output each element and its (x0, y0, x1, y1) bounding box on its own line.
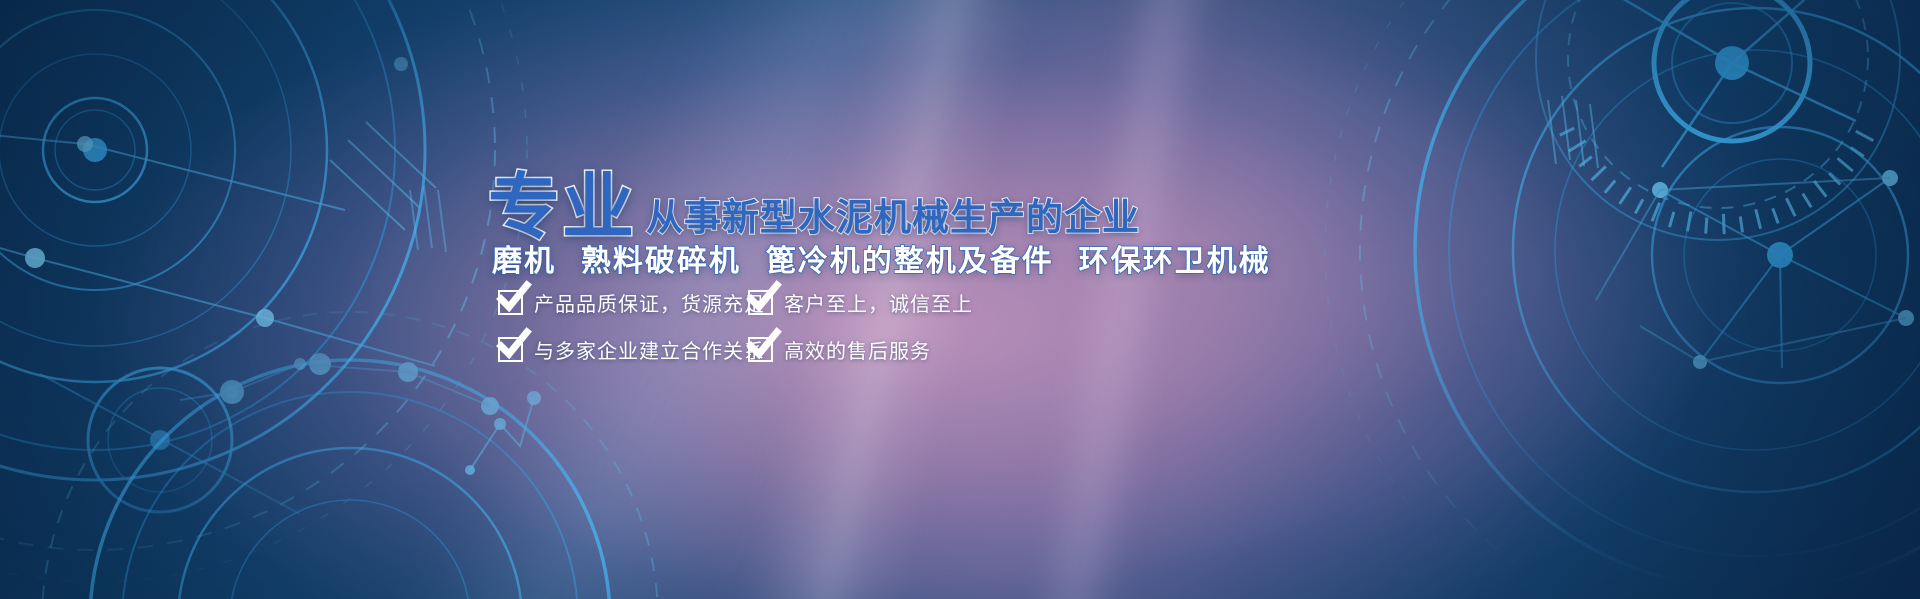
checkbox-check-icon (748, 337, 773, 362)
feature-list: 产品品质保证，货源充足 客户至上，诚信至上 (498, 288, 1018, 382)
headline: 专业 从事新型水泥机械生产的企业 (488, 168, 1140, 240)
feature-row: 产品品质保证，货源充足 客户至上，诚信至上 (498, 288, 1018, 317)
checkbox-check-icon (498, 337, 523, 362)
headline-lead-word: 专业 (488, 174, 636, 240)
subtitle-product-list: 磨机 熟料破碎机 篦冷机的整机及备件 环保环卫机械 (492, 236, 1271, 280)
feature-label: 与多家企业建立合作关系 (534, 335, 765, 364)
hero-banner: 专业 从事新型水泥机械生产的企业 磨机 熟料破碎机 篦冷机的整机及备件 环保环卫… (0, 0, 1920, 599)
feature-item: 与多家企业建立合作关系 (498, 335, 748, 364)
feature-label: 产品品质保证，货源充足 (534, 288, 765, 317)
feature-label: 高效的售后服务 (784, 335, 931, 364)
checkbox-check-icon (498, 290, 523, 315)
checkbox-check-icon (748, 290, 773, 315)
feature-item: 高效的售后服务 (748, 335, 931, 364)
feature-item: 产品品质保证，货源充足 (498, 288, 748, 317)
banner-content: 专业 从事新型水泥机械生产的企业 磨机 熟料破碎机 篦冷机的整机及备件 环保环卫… (0, 0, 1920, 599)
feature-row: 与多家企业建立合作关系 高效的售后服务 (498, 335, 1018, 364)
feature-label: 客户至上，诚信至上 (784, 288, 973, 317)
feature-item: 客户至上，诚信至上 (748, 288, 973, 317)
headline-rest-text: 从事新型水泥机械生产的企业 (646, 199, 1140, 236)
